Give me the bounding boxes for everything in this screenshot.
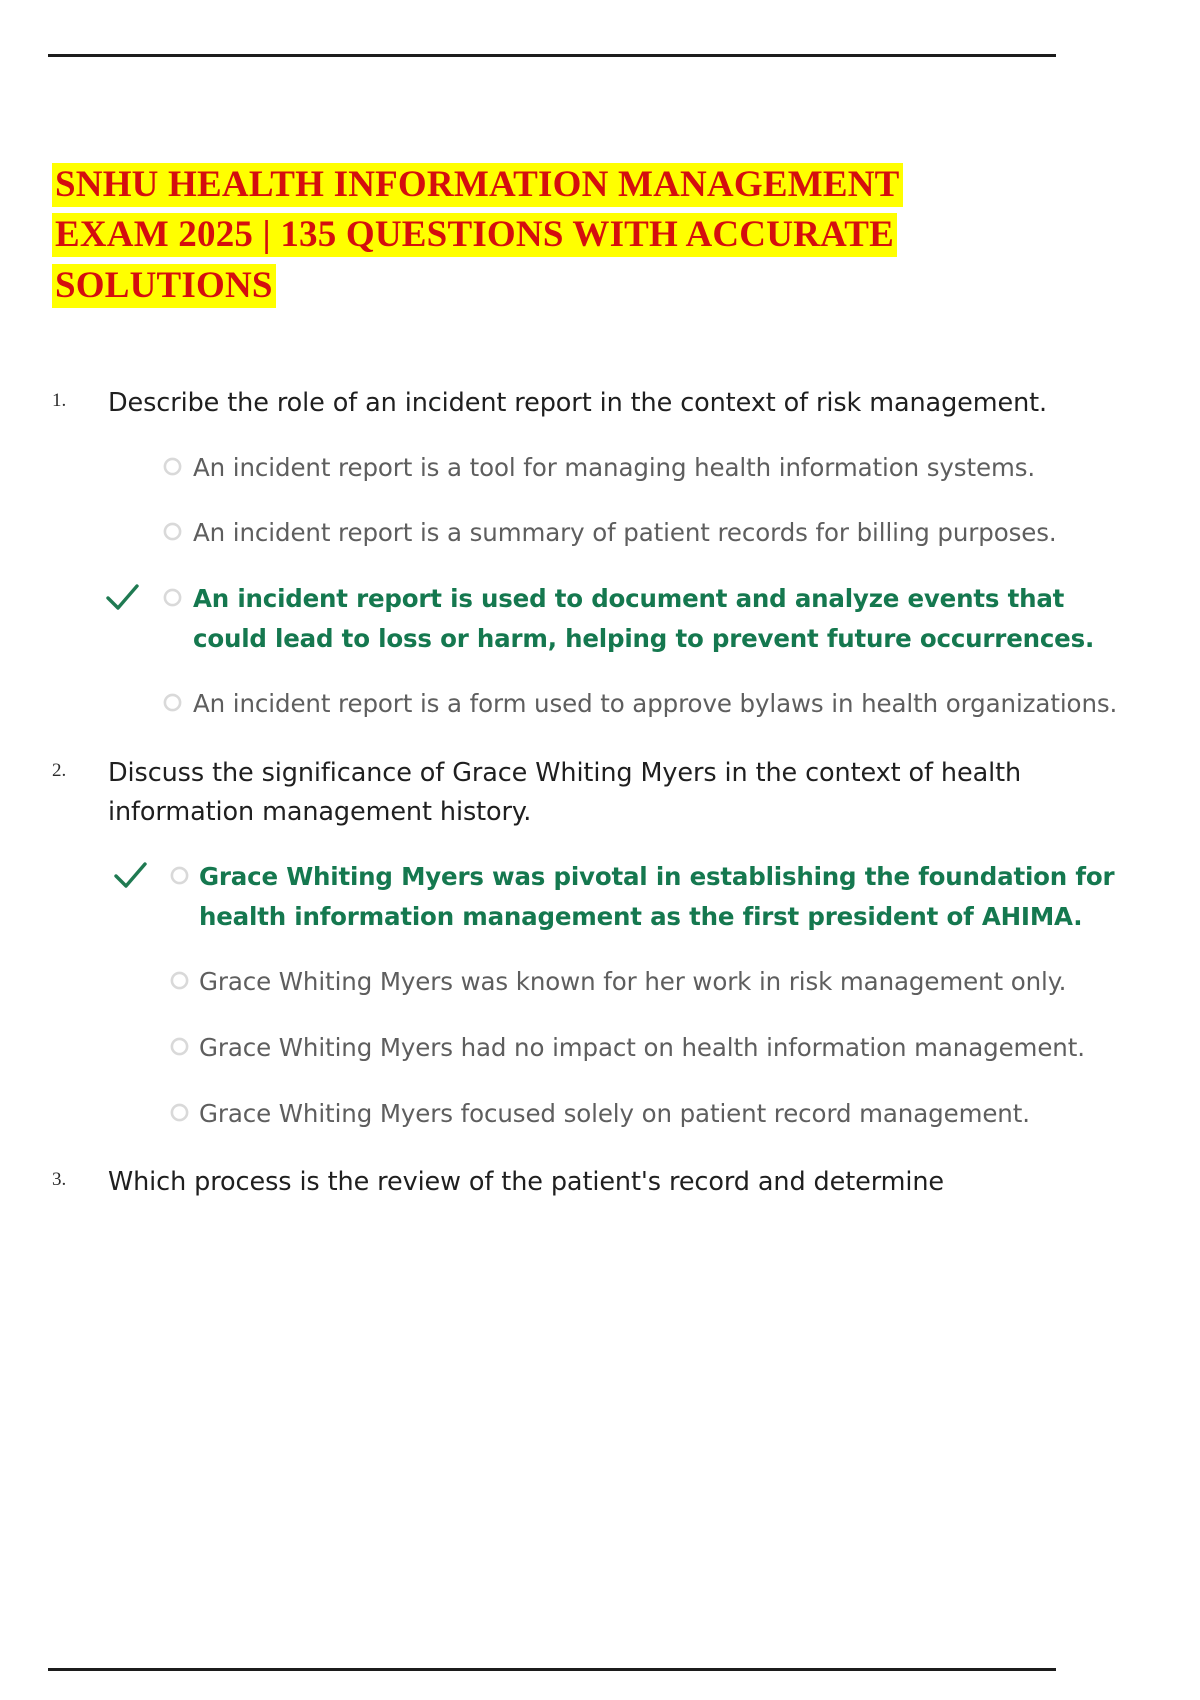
option-row[interactable]: An incident report is a form used to app… <box>0 684 1200 724</box>
radio-circle-icon[interactable] <box>163 522 182 541</box>
question-heading: 2. Discuss the significance of Grace Whi… <box>0 754 1200 833</box>
option-text: An incident report is a tool for managin… <box>193 453 1035 482</box>
radio-circle-icon[interactable] <box>170 1103 189 1122</box>
option-row-correct[interactable]: An incident report is used to document a… <box>0 579 1200 658</box>
radio-circle-icon[interactable] <box>163 588 182 607</box>
title-line-1-text: SNHU HEALTH INFORMATION MANAGEMENT <box>52 163 903 207</box>
footer-rule <box>48 1668 1056 1671</box>
option-text: An incident report is a summary of patie… <box>193 518 1057 547</box>
question-number: 3. <box>52 1169 94 1191</box>
option-row[interactable]: An incident report is a summary of patie… <box>0 513 1200 553</box>
option-row[interactable]: Grace Whiting Myers had no impact on hea… <box>0 1028 1200 1068</box>
option-row[interactable]: Grace Whiting Myers focused solely on pa… <box>0 1094 1200 1134</box>
radio-circle-icon[interactable] <box>170 1037 189 1056</box>
title-line-2-text: EXAM 2025 | 135 QUESTIONS WITH ACCURATE <box>52 213 897 257</box>
option-text: Grace Whiting Myers focused solely on pa… <box>199 1099 1030 1128</box>
question-text: Discuss the significance of Grace Whitin… <box>108 758 1021 828</box>
check-mark-icon <box>112 859 150 893</box>
option-row[interactable]: An incident report is a tool for managin… <box>0 448 1200 488</box>
radio-circle-icon[interactable] <box>170 971 189 990</box>
title-line-3-text: SOLUTIONS <box>52 264 276 308</box>
option-row-correct[interactable]: Grace Whiting Myers was pivotal in estab… <box>0 857 1200 936</box>
question-list: 1. Describe the role of an incident repo… <box>0 384 1200 1203</box>
question-text: Which process is the review of the patie… <box>108 1167 944 1197</box>
document-title: SNHU HEALTH INFORMATION MANAGEMENT EXAM … <box>52 160 1052 311</box>
question-item: 3. Which process is the review of the pa… <box>0 1163 1200 1203</box>
option-row[interactable]: Grace Whiting Myers was known for her wo… <box>0 962 1200 1002</box>
title-line-3: SOLUTIONS <box>52 261 1052 311</box>
header-rule <box>48 54 1056 57</box>
title-line-2: EXAM 2025 | 135 QUESTIONS WITH ACCURATE <box>52 210 1052 260</box>
question-item: 2. Discuss the significance of Grace Whi… <box>0 754 1200 1133</box>
option-text: An incident report is used to document a… <box>193 584 1094 653</box>
title-line-1: SNHU HEALTH INFORMATION MANAGEMENT <box>52 160 1052 210</box>
radio-circle-icon[interactable] <box>170 866 189 885</box>
question-text: Describe the role of an incident report … <box>108 388 1047 418</box>
question-number: 1. <box>52 390 94 412</box>
question-number: 2. <box>52 760 94 782</box>
option-list: Grace Whiting Myers was pivotal in estab… <box>0 857 1200 1133</box>
question-heading: 1. Describe the role of an incident repo… <box>0 384 1200 424</box>
option-text: Grace Whiting Myers had no impact on hea… <box>199 1033 1085 1062</box>
option-text: Grace Whiting Myers was pivotal in estab… <box>199 862 1114 931</box>
option-list: An incident report is a tool for managin… <box>0 448 1200 724</box>
radio-circle-icon[interactable] <box>163 457 182 476</box>
radio-circle-icon[interactable] <box>163 693 182 712</box>
question-heading: 3. Which process is the review of the pa… <box>0 1163 1200 1203</box>
option-text: Grace Whiting Myers was known for her wo… <box>199 967 1066 996</box>
check-mark-icon <box>104 581 142 615</box>
option-text: An incident report is a form used to app… <box>193 689 1117 718</box>
document-page: SNHU HEALTH INFORMATION MANAGEMENT EXAM … <box>0 0 1200 1700</box>
question-item: 1. Describe the role of an incident repo… <box>0 384 1200 724</box>
